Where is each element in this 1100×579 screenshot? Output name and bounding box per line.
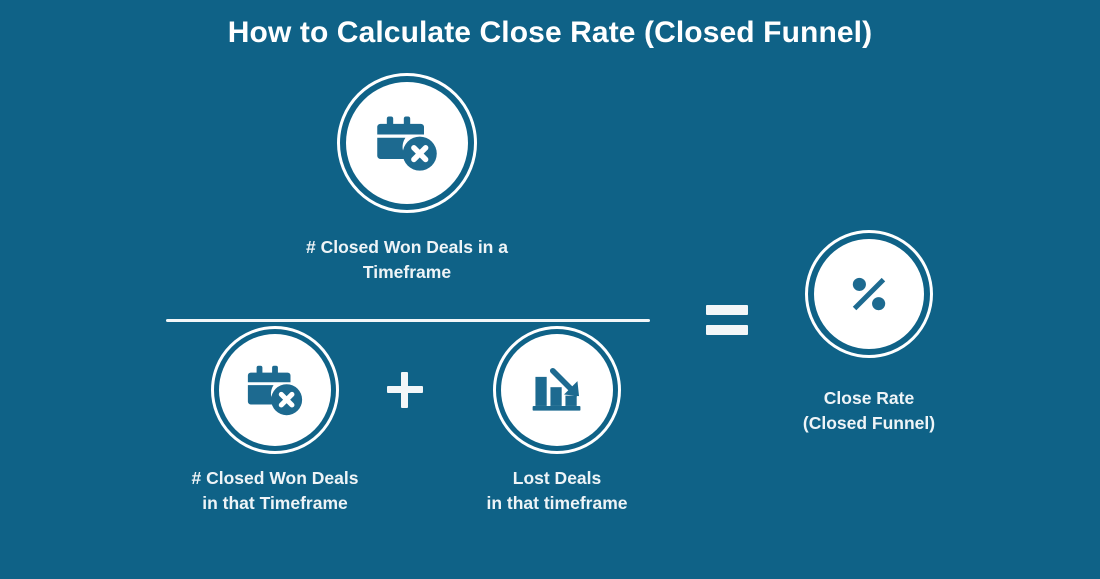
result-caption: Close Rate (Closed Funnel): [749, 386, 989, 436]
denominator-term-1-icon-badge: [219, 334, 331, 446]
result-caption-line2: (Closed Funnel): [749, 411, 989, 436]
equals-operator: [706, 305, 748, 339]
denominator-term-2-caption: Lost Deals in that timeframe: [435, 466, 679, 516]
denominator-term-2-icon-badge: [501, 334, 613, 446]
plus-operator: [384, 369, 426, 411]
denominator-term-2-line2: in that timeframe: [435, 491, 679, 516]
close-rate-formula: # Closed Won Deals in a Timeframe: [0, 72, 1100, 579]
page-title: How to Calculate Close Rate (Closed Funn…: [0, 13, 1100, 53]
fraction: # Closed Won Deals in a Timeframe: [106, 72, 708, 572]
result-icon-badge: [814, 239, 924, 349]
bar-chart-down-icon: [501, 334, 613, 446]
numerator-caption-line2: Timeframe: [147, 260, 667, 285]
denominator-term-2-line1: Lost Deals: [435, 466, 679, 491]
result-caption-line1: Close Rate: [749, 386, 989, 411]
denominator-term-1-line2: in that Timeframe: [155, 491, 395, 516]
numerator-caption-line1: # Closed Won Deals in a: [147, 235, 667, 260]
fraction-numerator: # Closed Won Deals in a Timeframe: [106, 72, 708, 304]
fraction-denominator: # Closed Won Deals in that Timeframe Los…: [106, 334, 708, 572]
percent-icon: [814, 239, 924, 349]
fraction-bar: [166, 319, 650, 322]
denominator-term-1-line1: # Closed Won Deals: [155, 466, 395, 491]
numerator-caption: # Closed Won Deals in a Timeframe: [147, 235, 667, 285]
calendar-x-icon: [346, 82, 468, 204]
denominator-term-1-caption: # Closed Won Deals in that Timeframe: [155, 466, 395, 516]
calendar-x-icon: [219, 334, 331, 446]
numerator-icon-badge: [346, 82, 468, 204]
